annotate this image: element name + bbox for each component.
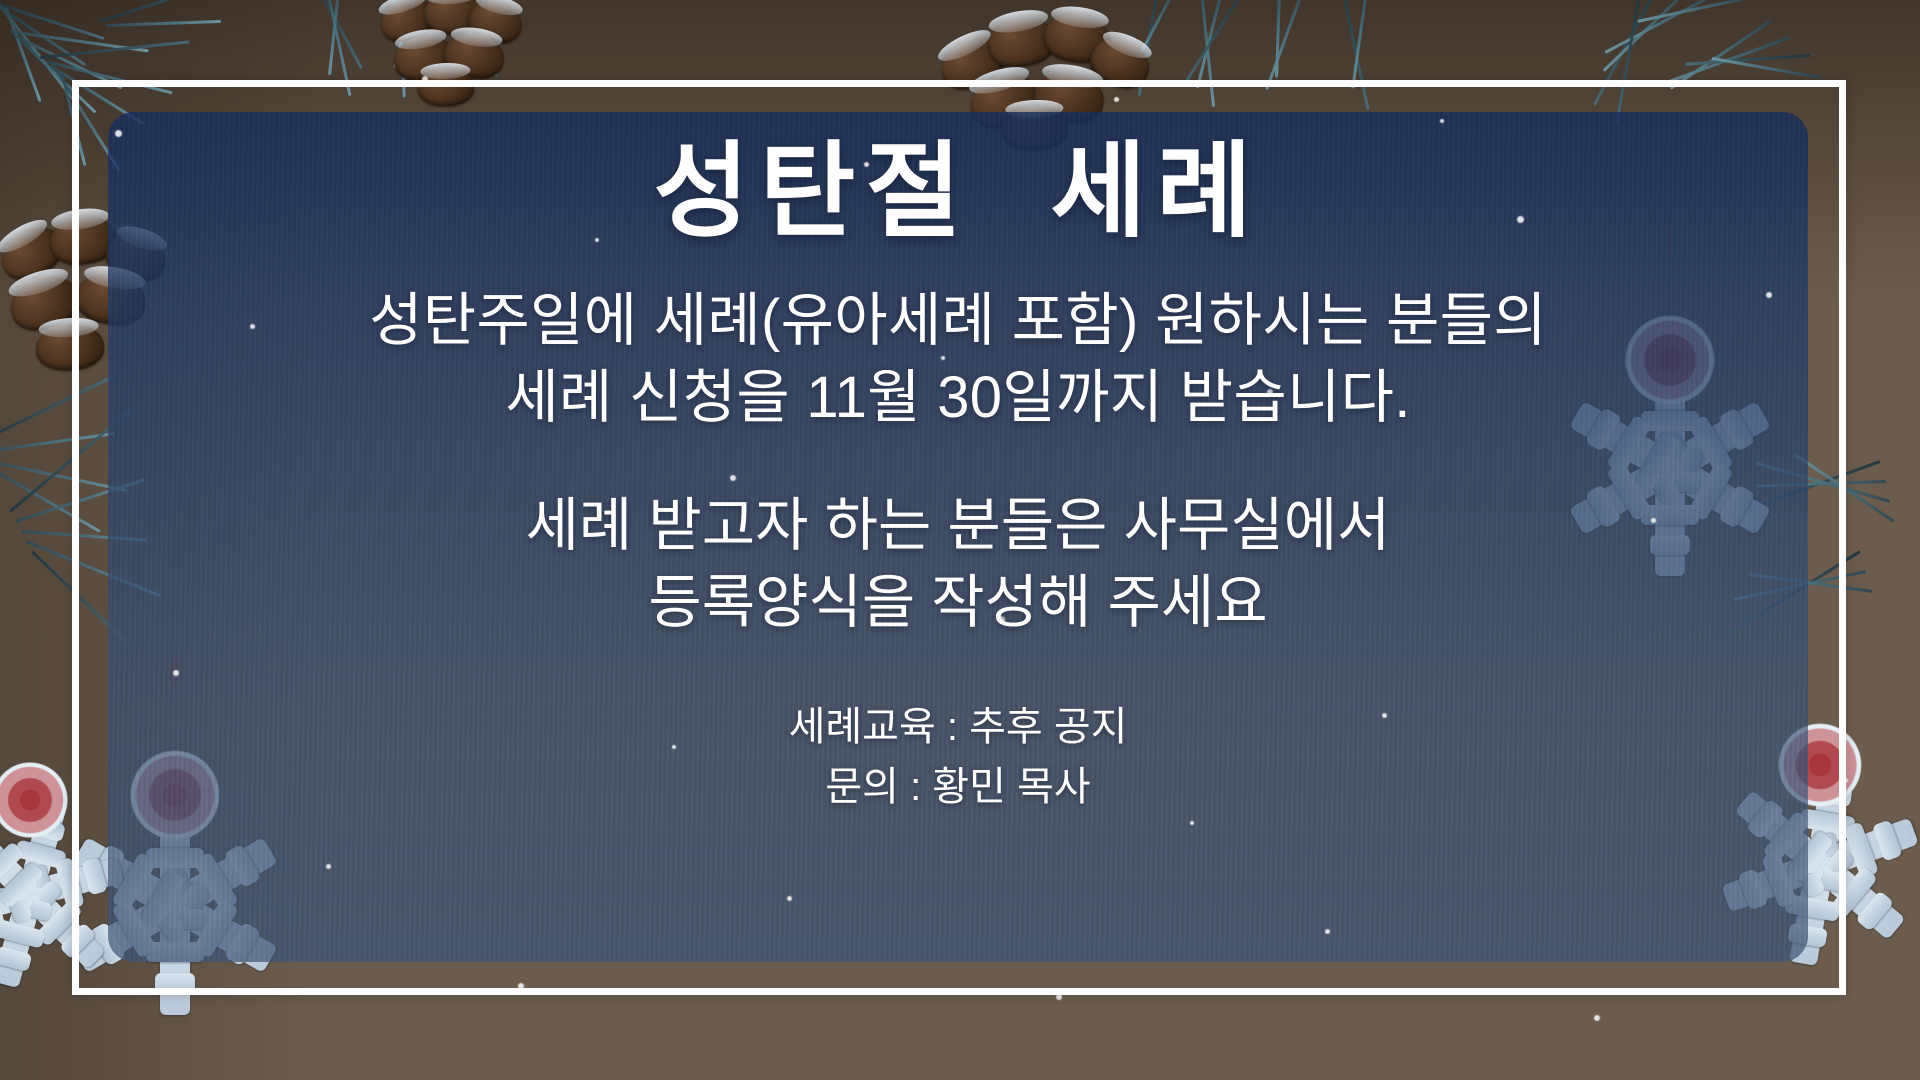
education-notice: 세례교육 : 추후 공지 xyxy=(789,697,1128,757)
announcement-line: 성탄주일에 세례(유아세례 포함) 원하시는 분들의 xyxy=(369,283,1547,360)
page-title: 성탄절 세례 xyxy=(654,138,1263,247)
announcement-paragraph-1: 성탄주일에 세례(유아세례 포함) 원하시는 분들의 세례 신청을 11월 30… xyxy=(369,283,1547,436)
announcement-line: 세례 신청을 11월 30일까지 받습니다. xyxy=(369,360,1547,437)
christmas-baptism-poster: 성탄절 세례 성탄주일에 세례(유아세례 포함) 원하시는 분들의 세례 신청을… xyxy=(0,0,1920,1080)
inquiry-contact: 문의 : 황민 목사 xyxy=(789,757,1128,817)
announcement-line: 등록양식을 작성해 주세요 xyxy=(526,565,1391,642)
poster-content: 성탄절 세례 성탄주일에 세례(유아세례 포함) 원하시는 분들의 세례 신청을… xyxy=(108,112,1808,962)
contact-info: 세례교육 : 추후 공지 문의 : 황민 목사 xyxy=(789,697,1128,817)
announcement-line: 세례 받고자 하는 분들은 사무실에서 xyxy=(526,488,1391,565)
announcement-paragraph-2: 세례 받고자 하는 분들은 사무실에서 등록양식을 작성해 주세요 xyxy=(526,488,1391,641)
